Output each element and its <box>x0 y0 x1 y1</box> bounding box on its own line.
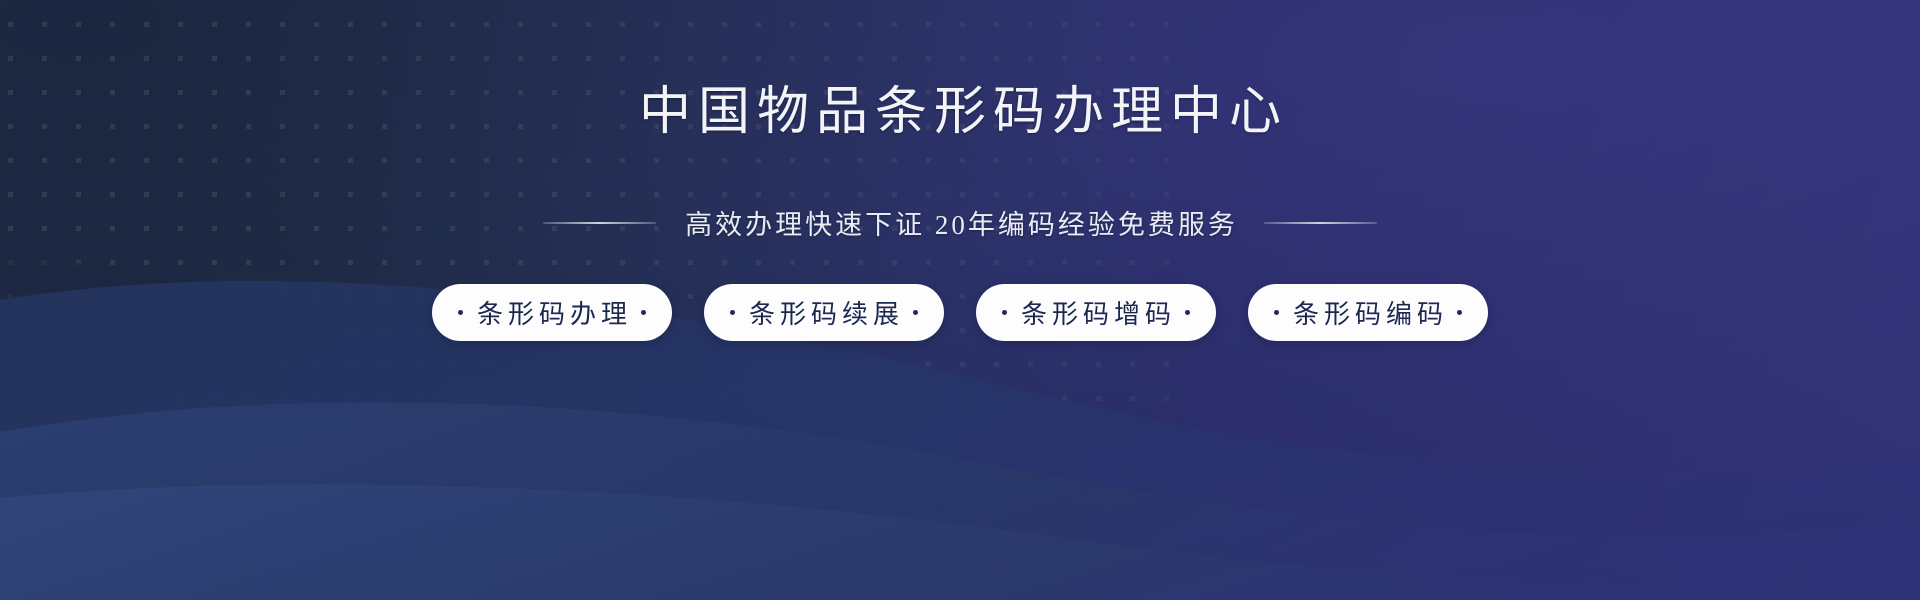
bullet-dot-icon <box>1002 310 1007 315</box>
banner-content: 中国物品条形码办理中心 高效办理快速下证 20年编码经验免费服务 条形码办理 条… <box>0 0 1920 600</box>
service-button-banli[interactable]: 条形码办理 <box>432 284 672 341</box>
subtitle-row: 高效办理快速下证 20年编码经验免费服务 <box>543 203 1377 242</box>
bullet-dot-icon <box>730 310 735 315</box>
service-button-label: 条形码办理 <box>472 294 632 331</box>
bullet-dot-icon <box>458 310 463 315</box>
bullet-dot-icon <box>913 310 918 315</box>
service-button-label: 条形码编码 <box>1288 294 1448 331</box>
service-button-row: 条形码办理 条形码续展 条形码增码 条形码编码 <box>432 284 1488 341</box>
hero-banner: 中国物品条形码办理中心 高效办理快速下证 20年编码经验免费服务 条形码办理 条… <box>0 0 1920 600</box>
divider-right-icon <box>1264 222 1377 224</box>
page-title: 中国物品条形码办理中心 <box>632 84 1288 141</box>
service-button-label: 条形码续展 <box>744 294 904 331</box>
service-button-xuzhan[interactable]: 条形码续展 <box>704 284 944 341</box>
subtitle-text: 高效办理快速下证 20年编码经验免费服务 <box>682 203 1238 242</box>
bullet-dot-icon <box>1185 310 1190 315</box>
service-button-zengma[interactable]: 条形码增码 <box>976 284 1216 341</box>
service-button-label: 条形码增码 <box>1016 294 1176 331</box>
bullet-dot-icon <box>641 310 646 315</box>
service-button-bianma[interactable]: 条形码编码 <box>1248 284 1488 341</box>
bullet-dot-icon <box>1274 310 1279 315</box>
bullet-dot-icon <box>1457 310 1462 315</box>
divider-left-icon <box>543 222 656 224</box>
